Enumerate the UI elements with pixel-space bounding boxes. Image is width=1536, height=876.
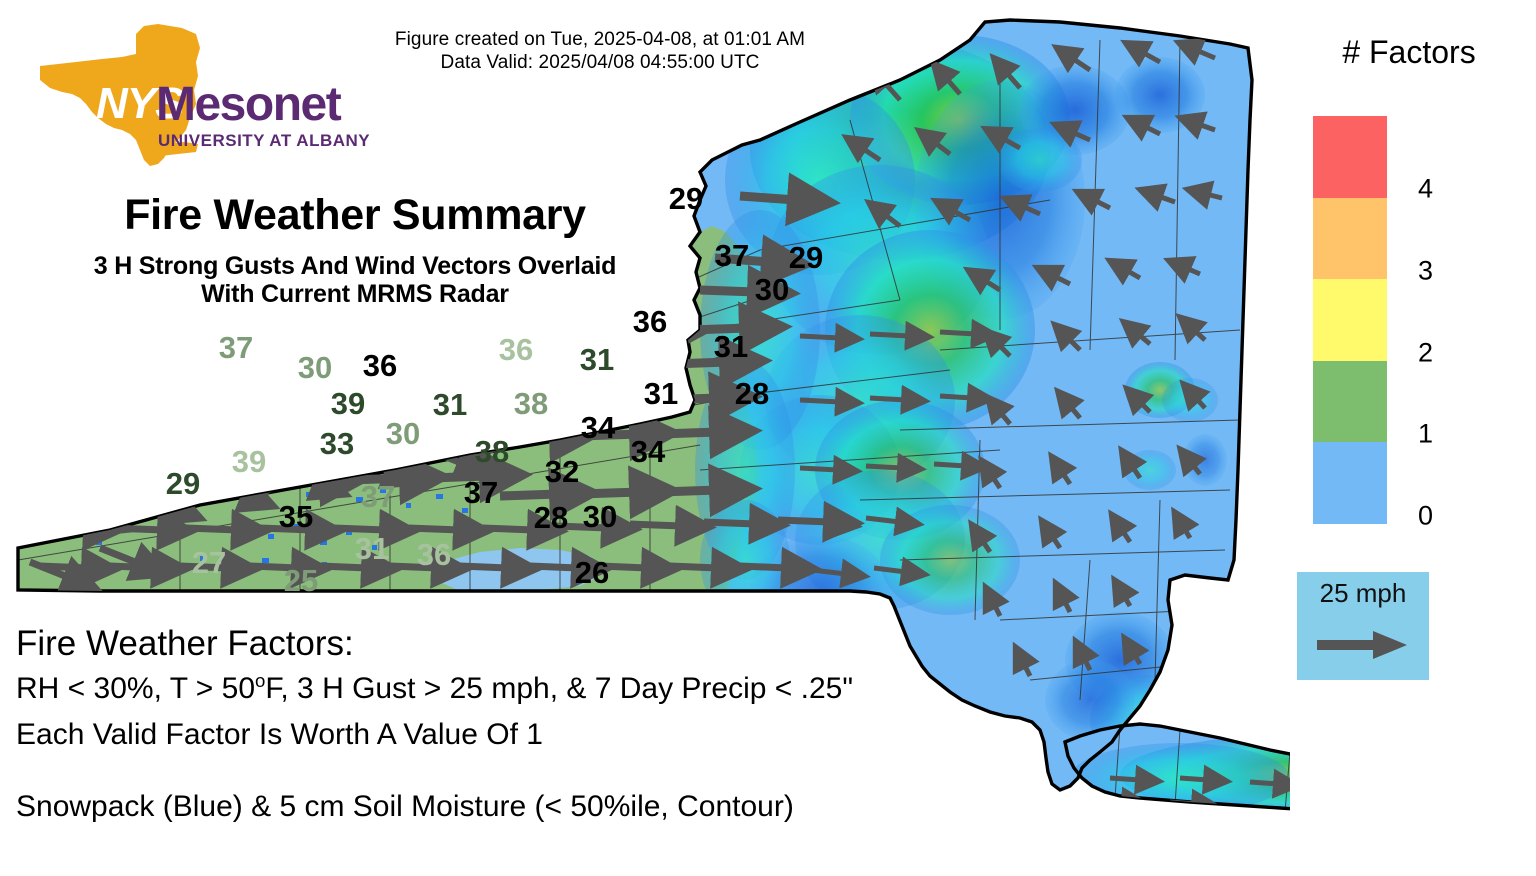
- wind-key-label: 25 mph: [1297, 578, 1429, 609]
- nysm-logo: NYS Mesonet UNIVERSITY AT ALBANY: [18, 18, 388, 178]
- logo-university-text: UNIVERSITY AT ALBANY: [158, 131, 370, 150]
- colorbar-tick-labels: 43210: [1398, 116, 1458, 524]
- gust-label: 31: [355, 531, 389, 567]
- gust-label: 36: [417, 537, 451, 573]
- gust-label: 31: [644, 376, 678, 412]
- gust-label: 37: [361, 479, 395, 515]
- gust-label: 30: [755, 272, 789, 308]
- gust-label: 36: [499, 332, 533, 368]
- gust-label: 32: [545, 454, 579, 490]
- gust-label: 36: [363, 348, 397, 384]
- gust-label: 30: [386, 416, 420, 452]
- gust-label: 34: [581, 410, 615, 446]
- data-valid-line: Data Valid: 2025/04/08 04:55:00 UTC: [340, 51, 860, 74]
- gust-label: 33: [320, 426, 354, 462]
- legend-title: # Factors: [1284, 34, 1534, 71]
- caption-snowpack-line: Snowpack (Blue) & 5 cm Soil Moisture (< …: [16, 784, 916, 830]
- caption-factors-line: RH < 30%, T > 50oF, 3 H Gust > 25 mph, &…: [16, 666, 916, 712]
- subtitle-line-2: With Current MRMS Radar: [20, 280, 690, 308]
- wind-vector-key: 25 mph: [1297, 572, 1429, 680]
- caption-factors-pre: RH < 30%, T > 50: [16, 672, 255, 705]
- colorbar-tick-4: 4: [1418, 174, 1433, 205]
- gust-label: 27: [192, 545, 226, 581]
- colorbar-tick-1: 1: [1418, 419, 1433, 450]
- fire-weather-factors-caption: Fire Weather Factors: RH < 30%, T > 50oF…: [16, 622, 916, 830]
- gust-label: 39: [232, 444, 266, 480]
- colorbar-band-3: [1313, 198, 1387, 280]
- colorbar-tick-3: 3: [1418, 256, 1433, 287]
- gust-label: 31: [714, 329, 748, 365]
- logo-mesonet-text: Mesonet: [156, 78, 342, 131]
- caption-heading: Fire Weather Factors:: [16, 622, 916, 666]
- gust-label: 39: [331, 386, 365, 422]
- gust-label: 37: [219, 330, 253, 366]
- caption-factors-post: F, 3 H Gust > 25 mph, & 7 Day Precip < .…: [265, 672, 853, 705]
- figure-timestamp-block: Figure created on Tue, 2025-04-08, at 01…: [340, 28, 860, 74]
- gust-label: 30: [298, 350, 332, 386]
- gust-label: 35: [279, 499, 313, 535]
- gust-label: 37: [464, 475, 498, 511]
- gust-label: 31: [580, 342, 614, 378]
- page-title: Fire Weather Summary: [20, 191, 690, 240]
- gust-label: 26: [575, 555, 609, 591]
- colorbar-band-0: [1313, 442, 1387, 524]
- colorbar-band-4: [1313, 116, 1387, 198]
- gust-label: 28: [735, 376, 769, 412]
- page-subtitle: 3 H Strong Gusts And Wind Vectors Overla…: [20, 252, 690, 308]
- gust-label: 38: [514, 386, 548, 422]
- factors-colorbar: [1313, 116, 1387, 524]
- wind-key-arrow-icon: [1313, 628, 1413, 667]
- gust-label: 30: [583, 499, 617, 535]
- gust-label: 31: [433, 387, 467, 423]
- gust-label: 37: [715, 238, 749, 274]
- colorbar-band-1: [1313, 361, 1387, 443]
- gust-label: 34: [631, 434, 665, 470]
- gust-label: 29: [166, 466, 200, 502]
- degree-symbol: o: [255, 670, 265, 691]
- colorbar-band-2: [1313, 279, 1387, 361]
- caption-value-line: Each Valid Factor Is Worth A Value Of 1: [16, 712, 916, 758]
- gust-label: 25: [284, 563, 318, 599]
- caption-spacer: [16, 758, 916, 784]
- gust-label: 28: [534, 500, 568, 536]
- figure-created-line: Figure created on Tue, 2025-04-08, at 01…: [340, 28, 860, 51]
- colorbar-tick-2: 2: [1418, 337, 1433, 368]
- subtitle-line-1: 3 H Strong Gusts And Wind Vectors Overla…: [20, 252, 690, 280]
- gust-label: 36: [633, 304, 667, 340]
- gust-label: 38: [475, 434, 509, 470]
- colorbar-tick-0: 0: [1418, 500, 1433, 531]
- gust-label: 29: [789, 240, 823, 276]
